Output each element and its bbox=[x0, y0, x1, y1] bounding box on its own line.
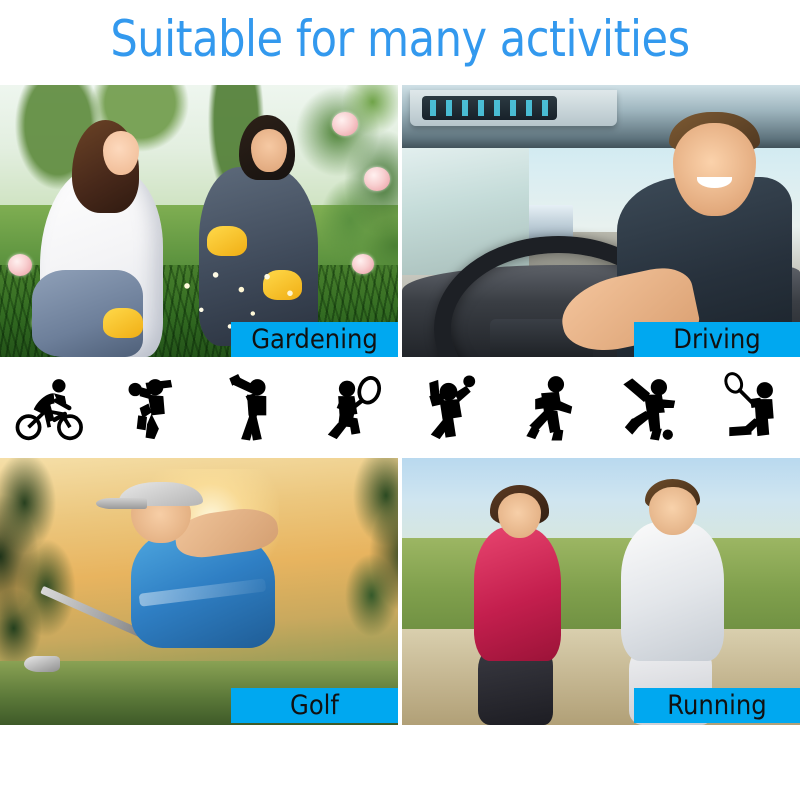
caption-golf: Golf bbox=[231, 688, 398, 723]
running-icon bbox=[513, 370, 587, 446]
gardening-yellow-glove bbox=[207, 226, 247, 256]
photo-golf bbox=[0, 458, 398, 725]
soccer-icon bbox=[613, 370, 687, 446]
running-man-face bbox=[649, 487, 697, 535]
golf-trees-right bbox=[302, 458, 398, 666]
page-title: Suitable for many activities bbox=[16, 8, 784, 70]
badminton-icon bbox=[713, 370, 787, 446]
photo-running bbox=[402, 458, 800, 725]
baseball-pitching-icon bbox=[113, 370, 187, 446]
driving-scene bbox=[402, 85, 800, 357]
golf-scene bbox=[0, 458, 398, 725]
gardening-rose-flower bbox=[364, 167, 390, 191]
sport-icon-strip bbox=[0, 358, 800, 458]
driving-man-face bbox=[673, 123, 757, 215]
photo-driving bbox=[402, 85, 800, 357]
cycling-icon bbox=[13, 370, 87, 446]
gardening-scene bbox=[0, 85, 398, 357]
activities-poster: Suitable for many activities bbox=[0, 0, 800, 800]
caption-driving: Driving bbox=[634, 322, 800, 357]
golf-trees-left bbox=[0, 458, 119, 682]
gardening-rose-flower bbox=[8, 254, 32, 276]
running-man-shirt bbox=[621, 522, 724, 661]
gardening-man-face bbox=[251, 129, 287, 173]
photo-gardening bbox=[0, 85, 398, 357]
volleyball-icon bbox=[413, 370, 487, 446]
caption-running: Running bbox=[634, 688, 800, 723]
running-woman-top bbox=[474, 527, 562, 661]
gardening-rose-flower bbox=[352, 254, 374, 274]
baseball-batting-icon bbox=[213, 370, 287, 446]
caption-gardening: Gardening bbox=[231, 322, 398, 357]
gardening-yellow-glove bbox=[103, 308, 143, 338]
running-scene bbox=[402, 458, 800, 725]
driving-overhead-console bbox=[422, 96, 557, 120]
tennis-icon bbox=[313, 370, 387, 446]
golf-club-head bbox=[24, 656, 60, 672]
golf-man-cap-brim bbox=[96, 498, 148, 509]
